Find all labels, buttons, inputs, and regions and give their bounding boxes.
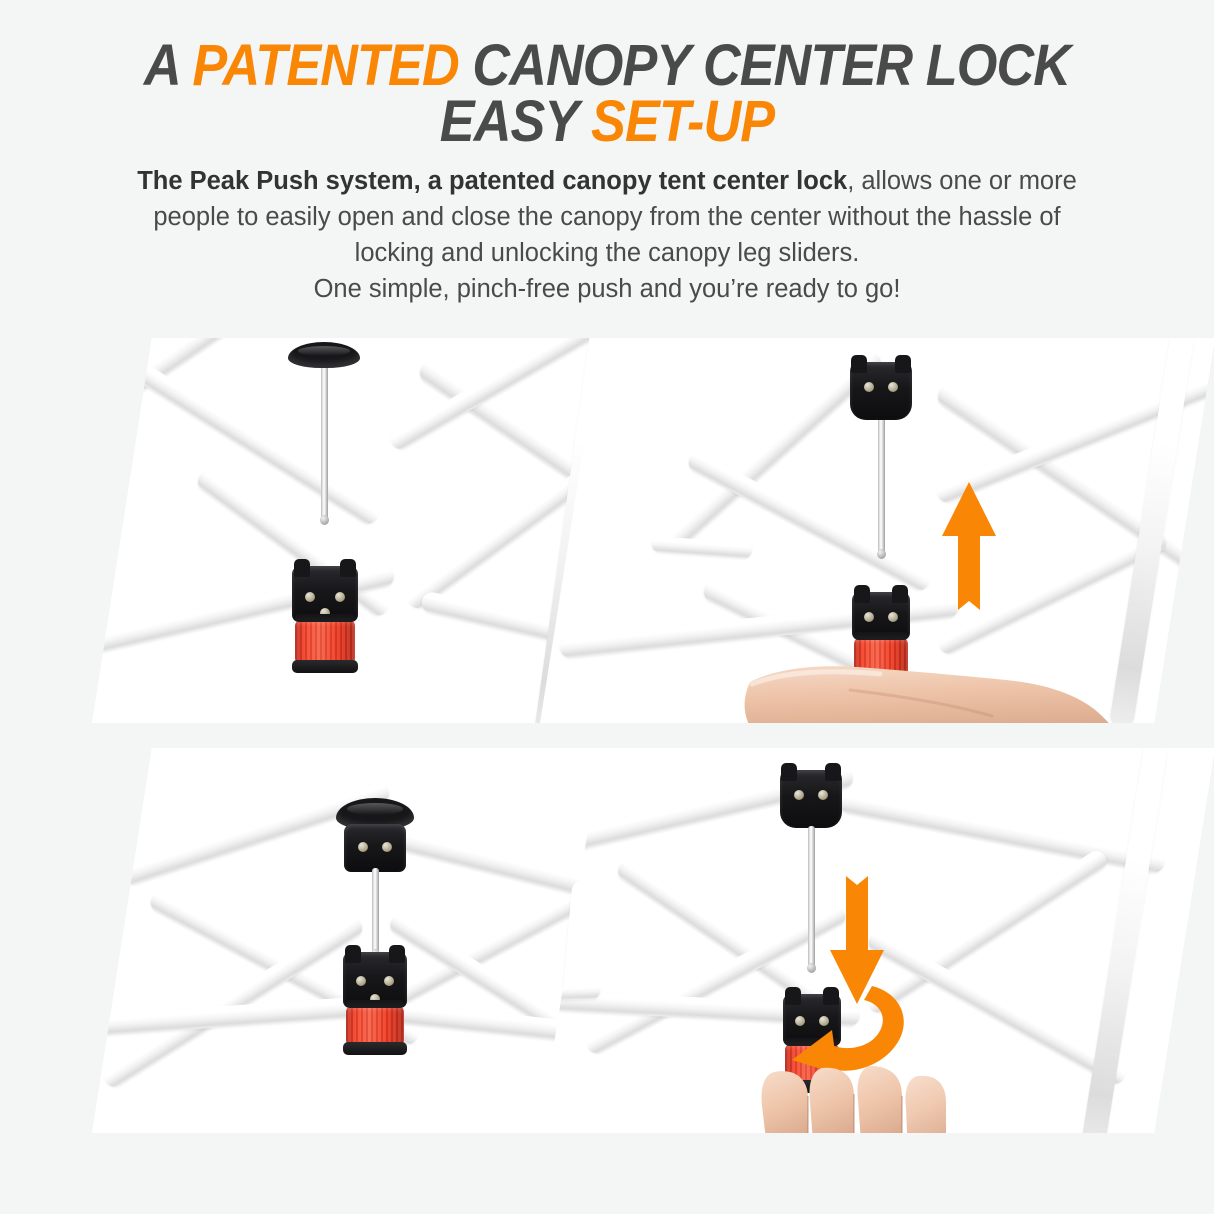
hub-ear-right: [892, 585, 908, 603]
panel-1-scene: [92, 338, 612, 723]
top-bracket-hub: [780, 770, 842, 828]
hub-ear-right: [825, 763, 841, 781]
top-knob-cap: [288, 342, 360, 368]
collar-top-lip: [295, 614, 355, 622]
red-center-lock-collar: [346, 1006, 404, 1046]
headline-line-1: A PATENTED CANOPY CENTER LOCK: [61, 38, 1154, 94]
page-title: A PATENTED CANOPY CENTER LOCK EASY SET-U…: [61, 38, 1154, 150]
frame-tube-mid-left: [685, 449, 933, 593]
photo-panel-canopy-frame-closed-detail: [92, 338, 612, 723]
push-rod: [808, 826, 815, 968]
upper-hub-bolt-right: [382, 842, 392, 852]
hub-ear-left: [294, 559, 310, 577]
hub-ear-right: [340, 559, 356, 577]
hub-ear-right: [895, 355, 911, 373]
panel-2-scene: [540, 338, 1214, 723]
frame-tube-left-stub: [651, 536, 752, 559]
hub-ear-left: [781, 763, 797, 781]
hub-bolt-left: [864, 382, 874, 392]
frame-tube-top-right: [838, 790, 1166, 875]
hand-pushing-up: [730, 644, 1130, 723]
product-feature-page: A PATENTED CANOPY CENTER LOCK EASY SET-U…: [0, 0, 1214, 1214]
top-bracket-hub: [850, 362, 912, 420]
photo-panel-canopy-frame-release-down: [540, 748, 1214, 1133]
panel-4-scene: [540, 748, 1214, 1133]
hub-ear-left: [854, 585, 870, 603]
push-rod: [372, 868, 379, 954]
description-line-3: locking and unlocking the canopy leg sli…: [70, 235, 1145, 271]
hub-bolt-right: [818, 790, 828, 800]
headline-text-c: EASY: [440, 89, 591, 154]
description-line-1-rest: , allows one or more: [847, 167, 1077, 195]
description-line-2: people to easily open and close the cano…: [70, 199, 1145, 235]
upper-hub-bolt-left: [358, 842, 368, 852]
hub-bolt-right: [384, 976, 394, 986]
red-center-lock-collar: [295, 620, 355, 664]
photo-panel-canopy-frame-push-up: [540, 338, 1214, 723]
hub-bolt-left: [305, 592, 315, 602]
hub-ear-left: [345, 945, 361, 963]
upper-bracket-hub: [344, 824, 406, 872]
description-line-4: One simple, pinch-free push and you’re r…: [70, 271, 1145, 307]
hub-bolt-left: [864, 612, 874, 622]
panel-3-scene: [92, 748, 612, 1133]
headline-highlight-setup: SET-UP: [591, 89, 774, 154]
push-rod: [321, 360, 328, 520]
collar-top-lip: [854, 632, 908, 640]
hub-bolt-right: [335, 592, 345, 602]
collar-top-lip: [346, 1000, 404, 1008]
hub-bolt-right: [888, 382, 898, 392]
headline-highlight-patented: PATENTED: [192, 33, 458, 98]
headline-line-2: EASY SET-UP: [61, 94, 1154, 150]
description-line-1: The Peak Push system, a patented canopy …: [70, 163, 1145, 199]
hub-bolt-right: [888, 612, 898, 622]
hub-bolt-left: [356, 976, 366, 986]
arrow-up-icon: [940, 480, 998, 612]
push-rod: [878, 416, 885, 554]
hub-bolt-left: [794, 790, 804, 800]
hand-gripping-fingers: [750, 1066, 990, 1133]
description-bold-lead: The Peak Push system, a patented canopy …: [137, 167, 847, 195]
description-paragraph: The Peak Push system, a patented canopy …: [70, 163, 1145, 307]
hub-ear-right: [389, 945, 405, 963]
photo-panel-grid: [0, 330, 1214, 1180]
photo-panel-canopy-frame-open-detail: [92, 748, 612, 1133]
hub-ear-left: [851, 355, 867, 373]
headline-text-a: A: [144, 33, 192, 98]
